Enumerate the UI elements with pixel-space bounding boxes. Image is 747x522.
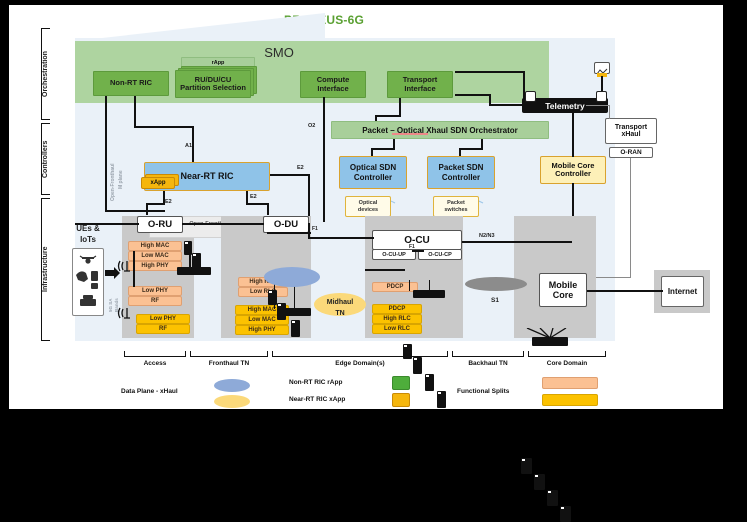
edge-ti-telemetry-mid-h2: [489, 104, 525, 106]
compute-interface-line2: Interface: [317, 85, 348, 93]
open-fronthaul-m-plane-label: Open-Fronthaul: [110, 131, 116, 201]
split-label: RF: [159, 326, 167, 332]
domain-label-core: Core Domain: [526, 358, 608, 368]
edge-nonrtric-down: [105, 96, 107, 212]
transport-xhaul-line2: xHaul: [621, 131, 640, 138]
edge-cu-up-cp: [412, 250, 424, 252]
packet-sdn-line2: Controller: [442, 173, 480, 182]
split-label: High PHY: [141, 263, 168, 269]
edge-oru-split-link: [133, 251, 135, 287]
o-cu-cp-box[interactable]: O-CU-CP: [418, 249, 462, 260]
split-oru-yellow-low-phy: Low PHY: [136, 314, 190, 324]
diagram-root: Orchestration Controllers Infrastructure…: [0, 0, 747, 420]
layer-label-infrastructure: Infrastructure: [40, 198, 51, 341]
server-icon: [268, 290, 277, 305]
telemetry-db-icon-right: [596, 91, 607, 102]
edge-ti-telemetry-top: [455, 71, 525, 73]
ue-device-panel: [72, 248, 104, 316]
legend-swatch-split-yellow: [542, 394, 598, 406]
o-ru-box[interactable]: O-RU: [137, 216, 183, 233]
split-label: Low MAC: [248, 317, 275, 323]
server-icon: [184, 241, 192, 255]
split-label: PDCP: [387, 284, 404, 290]
antenna-icon: [116, 305, 132, 321]
packet-optical-xhaul-orchestrator-box[interactable]: Packet – Optical Xhaul SDN Orchestrator: [331, 121, 549, 139]
optical-devices-callout: Optical devices: [345, 196, 391, 217]
edge-server-switch: [189, 255, 191, 268]
split-label: Low PHY: [150, 316, 176, 322]
packet-sdn-line1: Packet SDN: [439, 163, 484, 172]
split-label: High RLC: [383, 316, 410, 322]
split-label: High MAC: [248, 307, 277, 313]
interface-label-s1: S1: [475, 295, 515, 305]
split-oru-low-phy: Low PHY: [128, 286, 182, 296]
backhaul-ellipse: [465, 277, 527, 291]
ues-iots-label-2: IoTs: [65, 234, 111, 244]
mobile-core-ctrl-line2: Controller: [555, 170, 591, 178]
transport-xhaul-line1: Transport: [615, 124, 647, 131]
open-fronthaul-m-plane-label2: M plane: [118, 143, 124, 189]
server-icon: [560, 506, 571, 522]
edge-a1-horz: [134, 126, 194, 128]
interface-label-f1: F1: [312, 226, 318, 232]
edge-ric-to-odu-h: [246, 203, 269, 205]
split-label: Low PHY: [142, 288, 168, 294]
telemetry-label: Telemetry: [545, 101, 585, 111]
rapp-tab-label: rApp: [212, 60, 225, 66]
split-label: Low MAC: [141, 253, 168, 259]
interface-label-o2: O2: [308, 123, 315, 129]
split-label: PDCP: [389, 306, 406, 312]
edge-ti-telemetry-mid: [455, 94, 491, 96]
antenna-icon: [116, 258, 132, 274]
domain-label-fronthaul: Fronthaul TN: [188, 358, 270, 368]
diagram-canvas: Orchestration Controllers Infrastructure…: [9, 5, 723, 409]
edge-telemetry-to-mcc: [572, 113, 574, 157]
interface-label-e2-odu: E2: [250, 194, 257, 200]
domain-bracket-fronthaul: [190, 351, 268, 357]
legend-swatch-split-orange: [542, 377, 598, 389]
ues-iots-label-1: UEs &: [65, 223, 111, 233]
split-odu-high-phy: High PHY: [235, 325, 289, 335]
packet-switches-line2: switches: [444, 207, 467, 213]
edge-ric-to-oru-v2: [146, 203, 148, 215]
optical-sdn-line1: Optical SDN: [350, 163, 396, 172]
edge-ocu-srv2: [429, 280, 430, 291]
edge-oru-to-odu: [182, 223, 264, 225]
edge-nonrtric-to-oru: [105, 210, 165, 212]
mobile-core-line1: Mobile: [549, 280, 578, 290]
transport-interface-box[interactable]: Transport Interface: [387, 71, 453, 98]
optical-sdn-line2: Controller: [354, 173, 392, 182]
edge-ric-to-oru-h: [146, 203, 165, 205]
oran-box: O-RAN: [609, 147, 653, 158]
server-icon: [547, 490, 558, 506]
split-oru-high-phy: High PHY: [128, 261, 182, 271]
midhaul-label-1: Midhaul: [312, 297, 368, 307]
edge-telemetry-to-txhaul-v: [609, 105, 610, 119]
legend-swatch-xapp: [392, 393, 410, 407]
edge-n2n3: [462, 241, 572, 243]
xapp-box[interactable]: xApp: [141, 177, 175, 189]
interface-label-e2-right: E2: [297, 165, 304, 171]
split-ocu-pdcp: PDCP: [372, 282, 418, 292]
orchestrator-label: Packet – Optical Xhaul SDN Orchestrator: [362, 126, 518, 135]
legend-label-near-rt-xapp: Near-RT RIC xApp: [289, 396, 345, 403]
split-oru-high-mac: High MAC: [128, 241, 182, 251]
legend-swatch-fronthaul: [214, 379, 250, 392]
partition-line2: Partition Selection: [180, 84, 246, 92]
panel-perspective-wedge: [75, 13, 325, 41]
edge-odu-to-ocu: [308, 237, 374, 239]
packet-sdn-controller-box[interactable]: Packet SDN Controller: [427, 156, 495, 189]
layer-label-orchestration: Orchestration: [40, 28, 51, 120]
split-label: High MAC: [141, 243, 170, 249]
split-ocu-y-low-rlc: Low RLC: [372, 324, 422, 334]
edge-odu-right: [267, 232, 311, 234]
interface-label-a1: A1: [185, 143, 192, 149]
midhaul-label-2: TN: [312, 308, 368, 318]
o-du-label: O-DU: [274, 219, 298, 230]
split-label: RF: [151, 298, 159, 304]
edge-oran-down: [630, 158, 631, 278]
o-cu-up-box[interactable]: O-CU-UP: [372, 249, 416, 260]
edge-transport-to-orch-h: [375, 115, 401, 117]
domain-label-access: Access: [122, 358, 188, 368]
transport-xhaul-box[interactable]: Transport xHaul: [605, 118, 657, 144]
o-du-box[interactable]: O-DU: [263, 216, 309, 233]
non-rt-ric-label: Non-RT RIC: [110, 79, 152, 87]
server-icon: [425, 374, 434, 391]
domain-label-edge: Edge Domain(s): [270, 358, 450, 368]
spellcheck-underline: [392, 133, 428, 135]
core-server-fan-lines: [521, 328, 581, 340]
domain-label-backhaul: Backhaul TN: [450, 358, 526, 368]
split-oru-low-mac: Low MAC: [128, 251, 182, 261]
legend-swatch-midhaul: [214, 395, 250, 408]
bands-label-1: 5G SA: [108, 288, 113, 312]
transport-interface-line2: Interface: [404, 85, 435, 93]
legend-label-data-plane: Data Plane - xHaul: [121, 388, 178, 395]
domain-bracket-edge: [272, 351, 448, 357]
oran-label: O-RAN: [620, 149, 641, 156]
edge-to-ocu-servers: [365, 269, 405, 271]
o-cu-up-label: O-CU-UP: [382, 252, 406, 258]
mobile-core-box[interactable]: Mobile Core: [539, 273, 587, 307]
legend-swatch-rapp: [392, 376, 410, 390]
legend-label-functional-splits: Functional Splits: [457, 388, 509, 395]
mobile-core-line2: Core: [553, 290, 574, 300]
telemetry-db-icon-left: [525, 91, 536, 102]
edge-telemetry-to-txhaul-h: [586, 105, 610, 106]
non-rt-ric-box[interactable]: Non-RT RIC: [93, 71, 169, 96]
xapp-label: xApp: [151, 180, 166, 186]
ru-du-cu-partition-selection-box[interactable]: RU/DU/CU Partition Selection: [175, 70, 251, 98]
domain-bracket-core: [528, 351, 606, 357]
server-icon: [534, 474, 545, 490]
server-icon: [437, 391, 446, 408]
fronthaul-ellipse: [264, 267, 320, 287]
edge-core-to-internet: [587, 290, 663, 292]
near-rt-ric-label: Near-RT RIC: [180, 171, 233, 181]
split-ocu-y-high-rlc: High RLC: [372, 314, 422, 324]
edge-a1-vert2: [192, 126, 194, 162]
packet-switches-callout: Packet switches: [433, 196, 479, 217]
o-cu-cp-label: O-CU-CP: [428, 252, 452, 258]
server-icon: [521, 458, 532, 474]
internet-box[interactable]: Internet: [661, 276, 704, 307]
edge-f1-corner: [308, 223, 310, 239]
legend-label-non-rt-rapp: Non-RT RIC rApp: [289, 379, 342, 386]
split-oru-rf: RF: [128, 296, 182, 306]
internet-label: Internet: [668, 287, 697, 296]
switch-icon: [279, 308, 311, 316]
edge-o2-vert: [323, 97, 325, 222]
edge-ric-to-odu-v2: [267, 203, 269, 215]
optical-devices-line2: devices: [358, 207, 378, 213]
interface-label-e2-oru: E2: [165, 199, 172, 205]
edge-orch-to-optical-h: [371, 148, 395, 150]
split-odu-low-rlc: Low RLC: [238, 287, 288, 297]
server-icon: [291, 320, 300, 337]
edge-ric-right-h: [270, 174, 310, 176]
split-label: High PHY: [248, 327, 275, 333]
edge-ocu-srv1: [409, 280, 410, 291]
compute-interface-box[interactable]: Compute Interface: [300, 71, 366, 98]
split-label: Low RLC: [384, 326, 410, 332]
domain-bracket-backhaul: [452, 351, 524, 357]
edge-a1-vert1: [134, 96, 136, 128]
o-cu-box[interactable]: O-CU: [372, 230, 462, 250]
split-oru-yellow-rf: RF: [136, 324, 190, 334]
interface-label-n2n3: N2/N3: [479, 233, 495, 239]
edge-orch-to-packet-h: [459, 148, 483, 150]
split-ocu-y-pdcp: PDCP: [372, 304, 422, 314]
switch-icon: [413, 290, 445, 298]
domain-bracket-access: [124, 351, 186, 357]
mobile-core-controller-box[interactable]: Mobile Core Controller: [540, 156, 606, 184]
optical-sdn-controller-box[interactable]: Optical SDN Controller: [339, 156, 407, 189]
switch-icon: [177, 267, 211, 275]
o-ru-label: O-RU: [148, 219, 172, 230]
layer-label-controllers: Controllers: [40, 123, 51, 195]
